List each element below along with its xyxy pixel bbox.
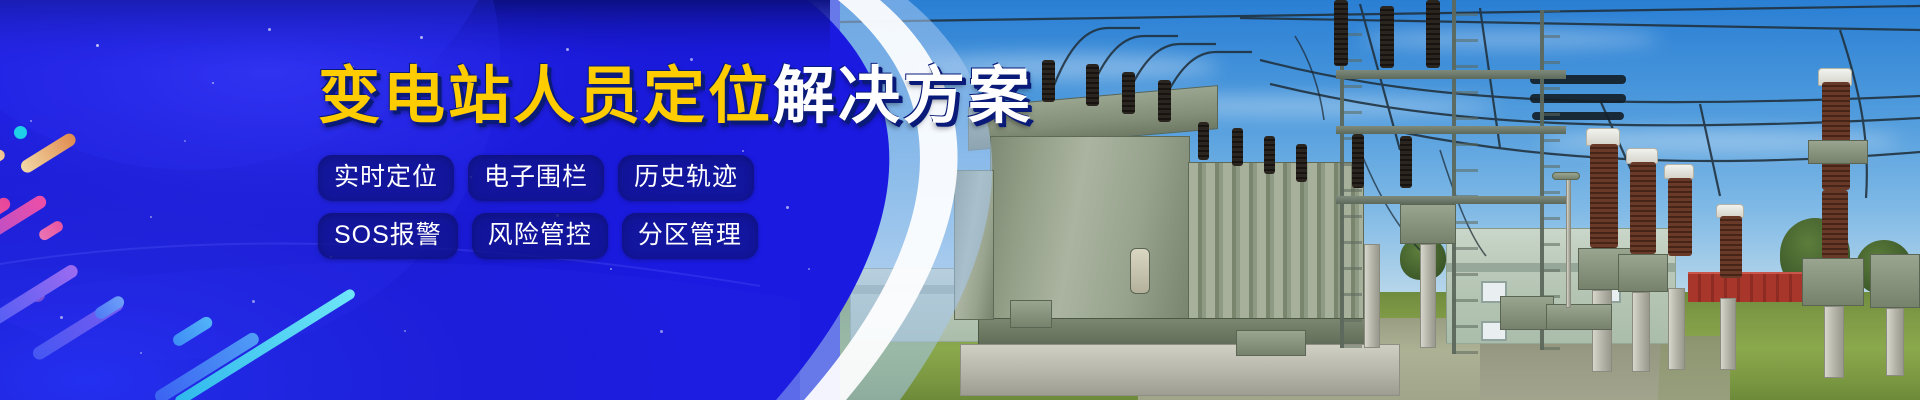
feature-tag-row: 实时定位 电子围栏 历史轨迹 xyxy=(318,155,878,201)
feature-tag-geofence[interactable]: 电子围栏 xyxy=(468,155,604,201)
feature-tag-realtime-location[interactable]: 实时定位 xyxy=(318,155,454,201)
solution-banner: 变电站人员定位解决方案 实时定位 电子围栏 历史轨迹 SOS报警 风险管控 分区… xyxy=(0,0,1920,400)
feature-tag-risk-control[interactable]: 风险管控 xyxy=(472,213,608,259)
headline-plain: 解决方案 xyxy=(773,62,1033,131)
feature-tag-zone-management[interactable]: 分区管理 xyxy=(622,213,758,259)
headline-highlight: 变电站人员定位 xyxy=(318,62,773,131)
banner-content: 变电站人员定位解决方案 实时定位 电子围栏 历史轨迹 SOS报警 风险管控 分区… xyxy=(318,60,878,259)
feature-tag-history-track[interactable]: 历史轨迹 xyxy=(618,155,754,201)
feature-tag-group: 实时定位 电子围栏 历史轨迹 SOS报警 风险管控 分区管理 xyxy=(318,155,878,259)
feature-tag-sos-alarm[interactable]: SOS报警 xyxy=(318,213,458,259)
page-title: 变电站人员定位解决方案 xyxy=(318,60,878,133)
feature-tag-row: SOS报警 风险管控 分区管理 xyxy=(318,213,878,259)
curve-divider xyxy=(0,0,1920,400)
